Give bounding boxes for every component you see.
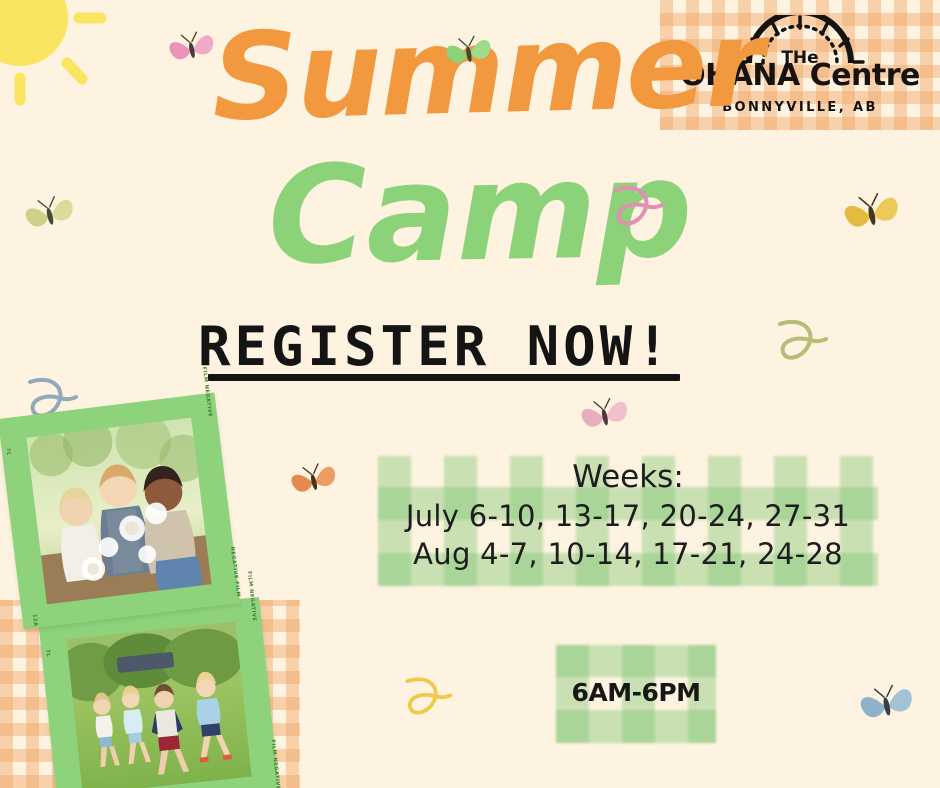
film-mark: FILM NEGATIVE	[246, 571, 257, 622]
butterfly-olive-icon	[22, 188, 78, 240]
film-mark: 12A	[31, 614, 38, 627]
register-now-underline	[208, 374, 680, 381]
weeks-august-line: Aug 4-7, 10-14, 17-21, 24-28	[378, 535, 878, 573]
photo-frame-dandelions: FILM NEGATIVE NEGATIVE FILM 7L 12A	[0, 393, 240, 630]
register-now-text: REGISTER NOW!	[198, 315, 673, 378]
squiggle-yellow-icon	[398, 668, 456, 730]
photo-children-with-dandelions	[26, 418, 211, 605]
title-summer: Summer	[211, 11, 764, 133]
weeks-label: Weeks:	[378, 458, 878, 497]
butterfly-yellow-icon	[840, 184, 904, 242]
weeks-july-line: July 6-10, 13-17, 20-24, 27-31	[378, 497, 878, 535]
butterfly-orange-icon	[288, 456, 340, 504]
butterfly-blue-icon	[856, 676, 918, 732]
title-camp: Camp	[267, 148, 693, 277]
film-mark: FILM NEGATIVE	[270, 739, 281, 788]
weeks-info: Weeks: July 6-10, 13-17, 20-24, 27-31 Au…	[378, 458, 878, 573]
film-mark: 7L	[5, 448, 12, 457]
butterfly-pale-pink-icon	[578, 390, 632, 440]
sun-icon	[0, 0, 108, 110]
photo-frame-running: FILM NEGATIVE FILM NEGATIVE 7L 12A	[38, 597, 280, 788]
hours-text: 6AM-6PM	[556, 678, 716, 707]
film-mark: NEGATIVE FILM	[229, 546, 241, 597]
summer-camp-poster: THe OHANA Centre BONNYVILLE, AB Summer C…	[0, 0, 940, 788]
photo-children-running	[66, 622, 251, 788]
squiggle-olive-icon	[770, 310, 832, 376]
film-mark: 7L	[44, 649, 51, 657]
